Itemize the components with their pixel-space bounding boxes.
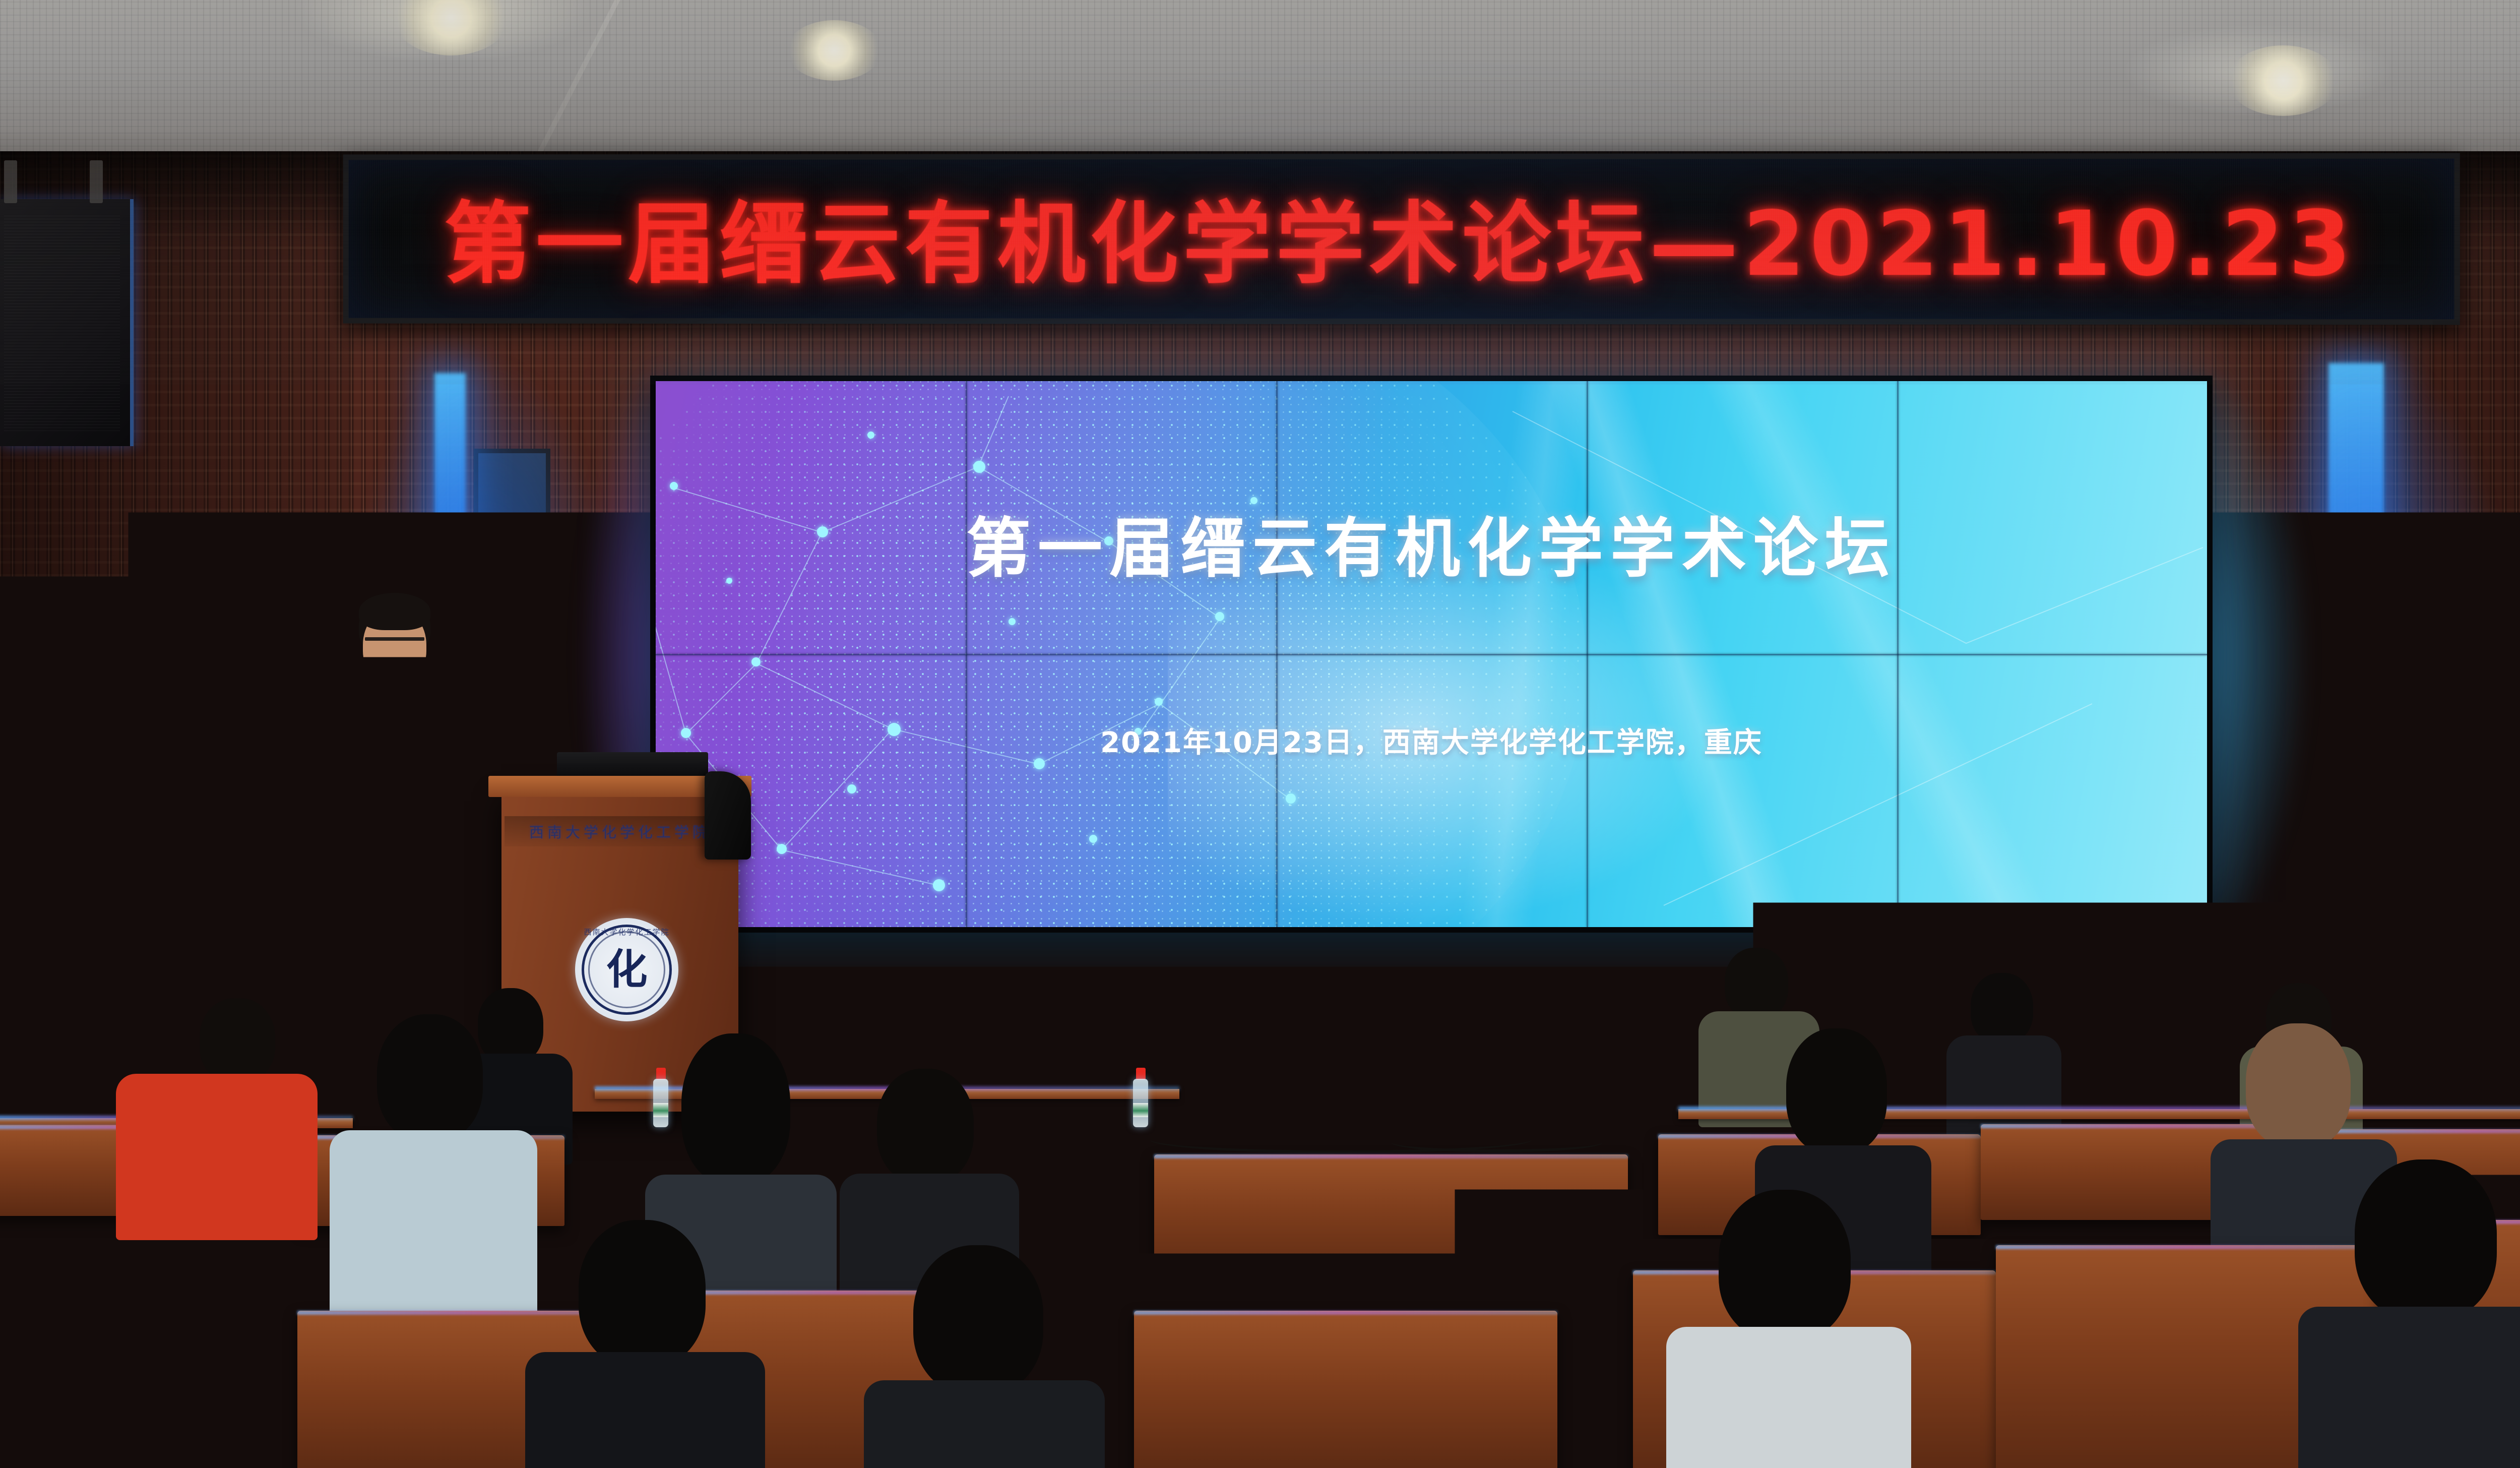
video-wall-display[interactable]: 第一届缙云有机化学学术论坛 2021年10月23日，西南大学化学化工学院，重庆 <box>656 381 2207 927</box>
microphone-head <box>360 695 382 718</box>
body <box>45 1301 277 1468</box>
body <box>330 1130 537 1327</box>
head <box>1725 948 1788 1019</box>
body <box>525 1352 765 1468</box>
head <box>579 1220 706 1367</box>
presenter-hair-top <box>359 593 430 630</box>
wall-loudspeaker <box>0 199 134 446</box>
presenter-arm-left <box>425 694 467 865</box>
av-cable-2 <box>1391 1132 1603 1152</box>
emblem-monogram: 化 <box>606 949 647 991</box>
university-emblem: 西南大学化学化工学院 化 <box>575 918 678 1021</box>
presenter-arm-right <box>321 694 364 860</box>
head <box>2355 1159 2497 1321</box>
led-scrolling-banner: 第一届缙云有机化学学术论坛—2021.10.23 <box>343 153 2460 325</box>
emblem-ring-text: 西南大学化学化工学院 <box>575 927 678 937</box>
ceiling-light-3 <box>2228 45 2339 116</box>
wall-outlet-plate-right[interactable] <box>2463 907 2517 928</box>
window-mullion-1 <box>478 529 546 532</box>
bench-front-4 <box>1134 1311 1557 1468</box>
ceiling-light-2 <box>786 20 882 81</box>
handheld-microphone[interactable] <box>365 714 377 773</box>
ceiling-tile-grid <box>0 0 2520 166</box>
head <box>200 998 275 1083</box>
led-banner-text: 第一届缙云有机化学学术论坛—2021.10.23 <box>349 171 2454 301</box>
podium-microphone-arm[interactable] <box>705 771 751 860</box>
loudspeaker-bracket-right <box>90 160 103 203</box>
panel-seam-h1 <box>656 654 2207 655</box>
door-handle-plate[interactable] <box>56 943 72 961</box>
head <box>681 1033 790 1185</box>
presenter-glasses <box>365 637 424 641</box>
video-wall-frame: 第一届缙云有机化学学术论坛 2021年10月23日，西南大学化学化工学院，重庆 <box>650 376 2213 933</box>
head <box>877 1069 974 1184</box>
door-leaf <box>0 687 99 1056</box>
head <box>2246 1023 2351 1148</box>
loudspeaker-grille <box>4 214 120 431</box>
slide-title: 第一届缙云有机化学学术论坛 <box>656 496 2207 589</box>
podium-nameplate-text: 西南大学化学化工学院 <box>529 821 711 842</box>
head <box>96 1175 217 1316</box>
body <box>864 1380 1105 1468</box>
podium-nameplate: 西南大学化学化工学院 <box>505 816 735 846</box>
bottle-label <box>1133 1103 1148 1117</box>
bottle-cap <box>1136 1068 1146 1080</box>
audience-person-front-4 <box>1678 1190 1895 1468</box>
bench-row2-mid <box>1154 1154 1628 1280</box>
audience-person-front-1 <box>60 1175 262 1468</box>
side-door[interactable] <box>0 680 106 1063</box>
head <box>1719 1190 1851 1341</box>
body <box>2298 1307 2520 1468</box>
window-mullion-2 <box>478 670 546 674</box>
audience-person-front-3 <box>877 1245 1089 1468</box>
head <box>913 1245 1043 1394</box>
audience-person-mid-2 <box>348 1014 514 1297</box>
light-switch-plate[interactable] <box>147 866 173 887</box>
water-bottle-2[interactable] <box>1133 1068 1148 1127</box>
audience-person-front-2 <box>539 1220 751 1468</box>
head <box>1971 973 2033 1044</box>
lecture-hall-photo: 第一届缙云有机化学学术论坛—2021.10.23 <box>0 0 2520 1468</box>
slide-subtitle: 2021年10月23日，西南大学化学化工学院，重庆 <box>656 720 2207 761</box>
head <box>377 1014 483 1141</box>
head <box>1786 1028 1887 1154</box>
body <box>1666 1327 1911 1468</box>
blue-accent-strip-right <box>2328 363 2384 882</box>
loudspeaker-bracket-left <box>4 160 17 203</box>
ceiling <box>0 0 2520 166</box>
audience-person-front-5 <box>2313 1159 2520 1468</box>
